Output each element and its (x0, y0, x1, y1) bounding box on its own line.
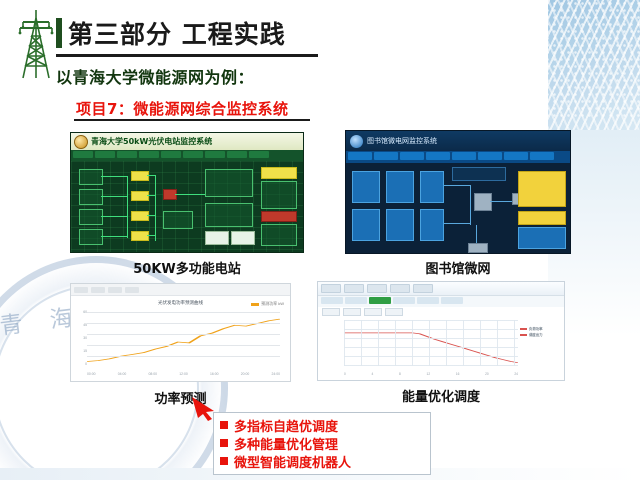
station-app-title: 青海大学50kW光伏电站监控系统 (91, 136, 212, 147)
x-tick: 20:00 (241, 372, 250, 376)
station-device-block (79, 209, 103, 225)
library-device-block (386, 209, 414, 241)
x-tick: 0 (344, 372, 346, 376)
screenshot-energy-dispatch[interactable]: 负荷功率 调度出力 0 4 8 12 16 20 24 (317, 281, 565, 381)
station-alarm-block (261, 211, 297, 222)
station-connector (101, 196, 127, 197)
library-device-block (352, 171, 380, 203)
library-bus-line (470, 185, 471, 225)
y-tick: 15 (73, 349, 87, 353)
dispatch-x-axis: 0 4 8 12 16 20 24 (344, 372, 518, 376)
bullet-label: 多种能量优化管理 (234, 434, 338, 453)
forecast-toolbar[interactable] (71, 284, 290, 296)
x-tick: 20 (485, 372, 489, 376)
y-tick: 30 (73, 336, 87, 340)
list-item: 微型智能调度机器人 (220, 452, 424, 470)
title-underline (56, 54, 318, 57)
dispatch-gridlines (344, 320, 518, 366)
x-tick: 16:00 (210, 372, 219, 376)
dispatch-legend-swatch (520, 334, 527, 336)
list-item: 多种能量优化管理 (220, 434, 424, 452)
library-connector (476, 225, 477, 245)
library-connector (490, 201, 512, 202)
library-load-icon (468, 243, 488, 253)
station-status-tile (205, 231, 229, 245)
station-readout (261, 167, 297, 179)
bullet-list-box: 多指标自趋优调度 多种能量优化管理 微型智能调度机器人 (213, 412, 431, 475)
station-connector (101, 216, 127, 217)
dispatch-toolbar[interactable] (318, 307, 564, 317)
bullet-label: 微型智能调度机器人 (234, 452, 351, 471)
transmission-tower-icon (14, 8, 58, 80)
station-readout-panel (261, 224, 297, 246)
list-item: 多指标自趋优调度 (220, 416, 424, 434)
station-bus-line (127, 176, 128, 238)
station-connector (147, 235, 155, 236)
bullet-label: 多指标自趋优调度 (234, 416, 338, 435)
library-device-block (420, 209, 444, 241)
dispatch-titlebar (318, 282, 564, 296)
x-tick: 16 (456, 372, 460, 376)
library-header-block (452, 167, 506, 181)
library-readout-panel (518, 211, 566, 225)
dispatch-legend-swatch (520, 328, 527, 330)
caption-forecast: 功率预测 (70, 388, 291, 407)
red-square-bullet-icon (220, 457, 228, 465)
background-dot-texture (530, 0, 640, 120)
station-connector (101, 176, 127, 177)
dispatch-legend: 负荷功率 调度出力 (520, 326, 560, 338)
slide-title-bar: 第三部分 工程实践 (56, 16, 286, 50)
page-title: 第三部分 工程实践 (68, 15, 286, 51)
station-inverter-block (131, 231, 149, 241)
station-device-block (163, 211, 193, 229)
forecast-gridlines (87, 312, 280, 365)
library-nav-bar[interactable] (346, 151, 570, 163)
x-tick: 04:00 (118, 372, 127, 376)
dispatch-legend-label: 调度出力 (529, 332, 543, 338)
station-panel-group (205, 169, 253, 197)
library-app-title: 图书馆微电网监控系统 (367, 136, 437, 146)
y-tick: 45 (73, 323, 87, 327)
station-menu-bar[interactable] (71, 150, 303, 161)
x-tick: 00:00 (87, 372, 96, 376)
forecast-legend: 预测功率 kW (251, 301, 284, 307)
forecast-y-axis: 60 45 30 15 0 (73, 310, 87, 366)
dispatch-plot-area (344, 320, 518, 366)
station-connector (175, 194, 205, 195)
red-square-bullet-icon (220, 439, 228, 447)
y-tick: 60 (73, 310, 87, 314)
caption-library: 图书馆微网 (345, 258, 571, 277)
station-diagram-canvas (71, 161, 303, 253)
station-bus-line (155, 175, 156, 241)
library-device-block (386, 171, 414, 203)
library-device-block (518, 227, 566, 249)
screenshot-power-forecast[interactable]: 光伏发电功率预测曲线 预测功率 kW 60 45 30 15 0 00:00 0… (70, 283, 291, 382)
forecast-x-axis: 00:00 04:00 08:00 12:00 16:00 20:00 24:0… (87, 372, 280, 376)
station-panel-group (205, 203, 253, 227)
library-transformer-icon (474, 193, 492, 211)
y-tick: 0 (73, 362, 87, 366)
red-square-bullet-icon (220, 421, 228, 429)
x-tick: 12:00 (179, 372, 188, 376)
screenshot-library-microgrid[interactable]: 图书馆微电网监控系统 (345, 130, 571, 254)
slide-canvas: 青 海 大 学 第三部分 工程实践 以青海大学微能源网为例： 项目7： (0, 0, 640, 480)
university-logo-icon (350, 135, 363, 148)
screenshot-station-scada[interactable]: 青海大学50kW光伏电站监控系统 (70, 132, 304, 253)
station-inverter-block (131, 191, 149, 201)
university-logo-icon (74, 135, 88, 149)
station-device-block (79, 169, 103, 185)
library-app-titlebar: 图书馆微电网监控系统 (346, 131, 570, 151)
station-device-block (79, 229, 103, 245)
project-heading: 项目7：微能源网综合监控系统 (76, 98, 288, 119)
slide-subtitle: 以青海大学微能源网为例： (56, 64, 254, 88)
title-accent-bar (56, 18, 62, 48)
forecast-legend-swatch (251, 303, 259, 306)
x-tick: 24:00 (272, 372, 281, 376)
caption-dispatch: 能量优化调度 (317, 386, 565, 405)
x-tick: 12 (427, 372, 431, 376)
project-heading-underline (74, 119, 310, 121)
forecast-plot-area (87, 312, 280, 365)
forecast-legend-label: 预测功率 kW (261, 301, 284, 307)
library-diagram-canvas (346, 163, 570, 254)
station-app-titlebar: 青海大学50kW光伏电站监控系统 (71, 133, 303, 150)
station-inverter-block (131, 211, 149, 221)
dispatch-tab-bar[interactable] (318, 296, 564, 307)
caption-station: 50KW多功能电站 (70, 258, 304, 277)
station-status-tile (231, 231, 255, 245)
station-connector (147, 215, 155, 216)
x-tick: 08:00 (149, 372, 158, 376)
library-connector (444, 223, 470, 224)
x-tick: 24 (514, 372, 518, 376)
x-tick: 4 (372, 372, 374, 376)
library-device-block (420, 171, 444, 203)
station-inverter-block (131, 171, 149, 181)
library-readout-panel (518, 171, 566, 207)
library-device-block (352, 209, 380, 241)
station-readout-panel (261, 181, 297, 209)
library-connector (444, 185, 470, 186)
x-tick: 8 (399, 372, 401, 376)
station-device-block (79, 189, 103, 205)
station-connector (147, 175, 155, 176)
station-connector (101, 236, 127, 237)
station-connector (147, 195, 155, 196)
